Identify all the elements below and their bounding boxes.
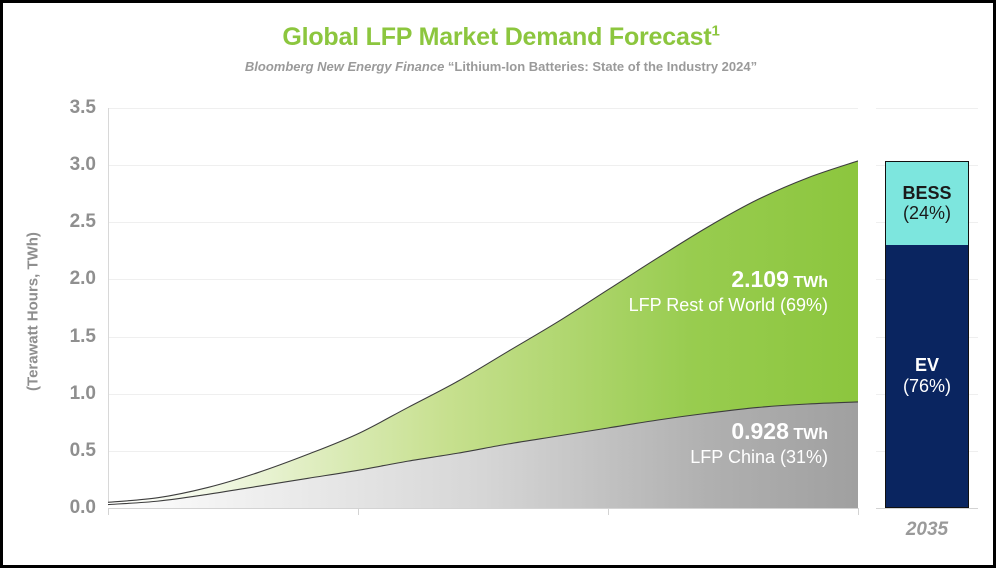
bar-gridline-3.5 (876, 108, 978, 109)
y-tick-label-3.5: 3.5 (70, 97, 96, 119)
x-tick-mark-2035 (858, 508, 859, 515)
bar-segment-ev-name: EV (915, 355, 939, 376)
y-tick-label-0.5: 0.5 (70, 440, 96, 462)
stacked-area-svg (108, 108, 858, 509)
y-tick-label-1.5: 1.5 (70, 326, 96, 348)
stacked-composition-bar[interactable]: BESS (24%) EV (76%) (885, 161, 969, 508)
y-tick-label-1.0: 1.0 (70, 383, 96, 405)
chart-figure: Global LFP Market Demand Forecast1 Bloom… (0, 0, 996, 568)
subtitle-source: Bloomberg New Energy Finance (245, 59, 444, 74)
chart-title-footnote-marker: 1 (712, 23, 720, 40)
bar-segment-bess-pct: (24%) (903, 203, 951, 224)
x-tick-mark-2030 (608, 508, 609, 515)
bar-segment-bess[interactable]: BESS (24%) (886, 162, 968, 245)
y-tick-label-3.0: 3.0 (70, 154, 96, 176)
composition-bar-panel: BESS (24%) EV (76%) 2035 (884, 108, 970, 508)
bar-segment-ev[interactable]: EV (76%) (886, 245, 968, 507)
y-axis-title: (Terawatt Hours, TWh) (25, 142, 42, 482)
x-tick-mark-2020 (108, 508, 109, 515)
bar-baseline (876, 508, 978, 509)
subtitle-report: “Lithium-Ion Batteries: State of the Ind… (448, 59, 757, 74)
chart-title: Global LFP Market Demand Forecast1 (3, 23, 996, 52)
bar-category-label: 2035 (906, 519, 948, 541)
y-tick-label-0.0: 0.0 (70, 497, 96, 519)
chart-title-text: Global LFP Market Demand Forecast (282, 23, 711, 51)
chart-subtitle: Bloomberg New Energy Finance “Lithium-Io… (3, 59, 996, 74)
plot-area: 3.5 3.0 2.5 2.0 1.5 1.0 0.5 0.0 2020 202… (108, 108, 858, 508)
y-tick-label-2.0: 2.0 (70, 268, 96, 290)
y-tick-label-2.5: 2.5 (70, 211, 96, 233)
bar-segment-ev-pct: (76%) (903, 376, 951, 397)
bar-segment-bess-name: BESS (902, 183, 951, 204)
x-tick-mark-2025 (358, 508, 359, 515)
